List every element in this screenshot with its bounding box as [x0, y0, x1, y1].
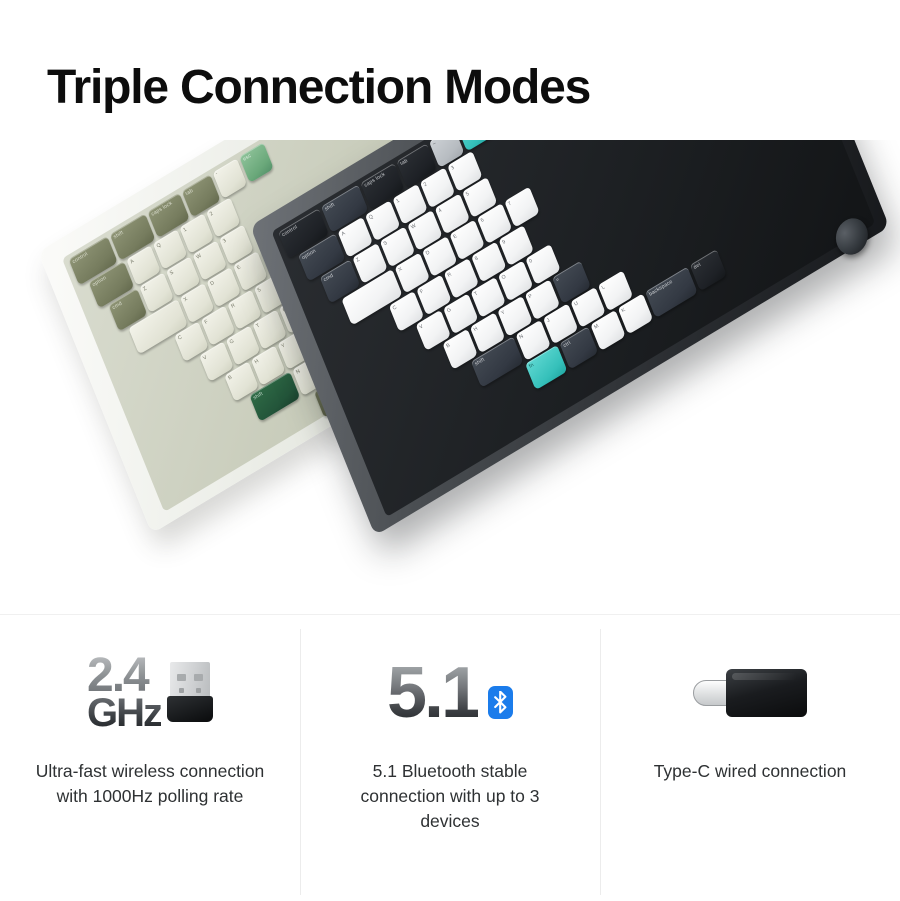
badge-24ghz: 2.4 GHz — [87, 637, 213, 749]
value-ghz-unit: GHz — [87, 696, 161, 730]
value-bluetooth-version: 5.1 — [387, 661, 478, 726]
feature-caption-typec: Type-C wired connection — [630, 759, 870, 784]
hero-product-image: control shift caps lock tab ` esc option… — [0, 140, 900, 614]
keycap-grid-dark: control shift caps lock tab ~ esc option… — [250, 140, 889, 536]
feature-caption-wireless: Ultra-fast wireless connection with 1000… — [30, 759, 270, 809]
page-title: Triple Connection Modes — [47, 60, 590, 115]
usb-dongle-icon — [167, 662, 213, 724]
usb-type-c-icon — [693, 667, 807, 719]
feature-panel-bluetooth-51: 5.1 5.1 Bluetooth stable connection with… — [300, 615, 600, 901]
product-keyboard-dark: control shift caps lock tab ~ esc option… — [250, 140, 889, 536]
badge-bluetooth: 5.1 — [387, 637, 513, 749]
feature-caption-bluetooth: 5.1 Bluetooth stable connection with up … — [330, 759, 570, 834]
bluetooth-icon — [488, 686, 513, 719]
feature-panel-wireless-24ghz: 2.4 GHz Ultra-fast wireless connection w… — [0, 615, 300, 901]
badge-typec — [693, 637, 807, 749]
feature-panel-wired-typec: Type-C wired connection — [600, 615, 900, 901]
value-24: 2.4 — [87, 655, 161, 696]
feature-strip: 2.4 GHz Ultra-fast wireless connection w… — [0, 614, 900, 901]
